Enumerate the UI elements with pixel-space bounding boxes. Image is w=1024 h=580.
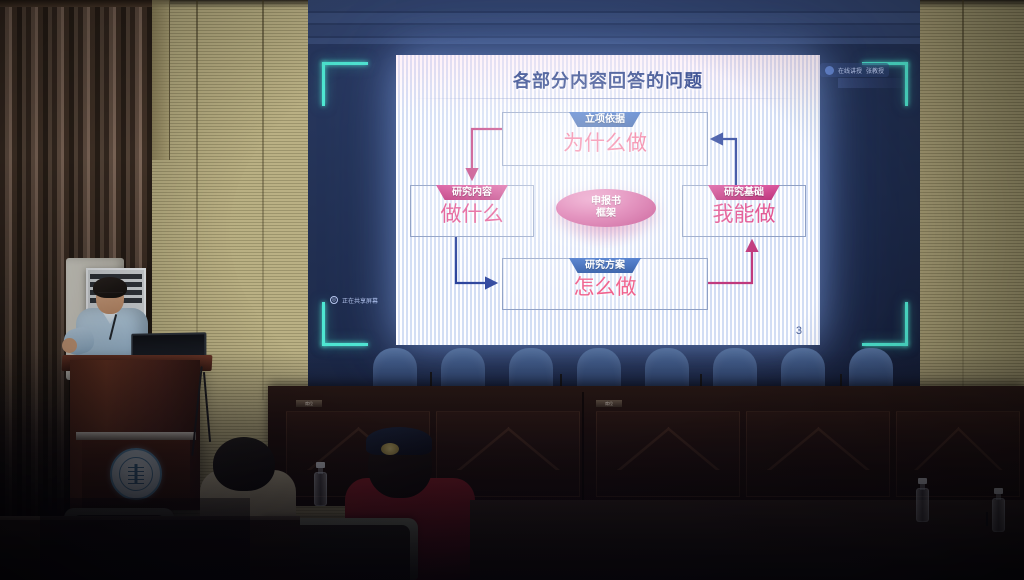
slide-box-left: 研究内容 做什么 bbox=[410, 185, 534, 237]
stream-toolbar-strip bbox=[838, 78, 914, 88]
curtain-rail bbox=[0, 0, 152, 7]
center-node: 申报书 框架 bbox=[556, 189, 656, 227]
slide-box-left-text: 做什么 bbox=[411, 198, 533, 228]
slide-box-bottom: 研究方案 怎么做 bbox=[502, 258, 708, 310]
screen-frame-corner-bottom-left bbox=[322, 302, 368, 346]
screen-share-label: 正在共享屏幕 bbox=[342, 296, 378, 305]
projected-slide: 各部分内容回答的问题 立项依据 为什么做 bbox=[396, 55, 820, 345]
wall-seam bbox=[262, 0, 264, 400]
center-node-line2: 框架 bbox=[596, 208, 616, 220]
slide-box-top-tab: 立项依据 bbox=[569, 112, 641, 127]
stream-user-bar[interactable]: 在线讲授 张教授 bbox=[820, 63, 889, 77]
screen-frame-corner-bottom-right bbox=[862, 302, 908, 346]
wall-light-bands bbox=[308, 0, 920, 44]
slide-page-number: 3 bbox=[796, 325, 802, 337]
stream-user-name: 张教授 bbox=[866, 66, 884, 75]
avatar bbox=[825, 66, 834, 75]
slide-box-top-text: 为什么做 bbox=[503, 127, 707, 157]
presentation-scene: 国家自然科学基金 直播中 在线讲授 张教授 ◎ 正在共享屏幕 各部分内容回答的问… bbox=[0, 0, 1024, 580]
room-ambient-shadow bbox=[0, 350, 1024, 580]
stream-user-role: 在线讲授 bbox=[838, 66, 862, 75]
screen-share-icon: ◎ bbox=[330, 296, 338, 304]
screen-share-indicator: ◎ 正在共享屏幕 bbox=[330, 294, 378, 306]
slide-box-right-text: 我能做 bbox=[683, 198, 805, 228]
slide-box-top: 立项依据 为什么做 bbox=[502, 112, 708, 166]
center-node-line1: 申报书 bbox=[591, 196, 621, 208]
presenter-glasses bbox=[98, 292, 123, 298]
wall-seam bbox=[962, 0, 964, 400]
screen-frame-corner-top-left bbox=[322, 62, 368, 106]
slide-box-right: 研究基础 我能做 bbox=[682, 185, 806, 237]
slide-box-bottom-text: 怎么做 bbox=[503, 271, 707, 301]
